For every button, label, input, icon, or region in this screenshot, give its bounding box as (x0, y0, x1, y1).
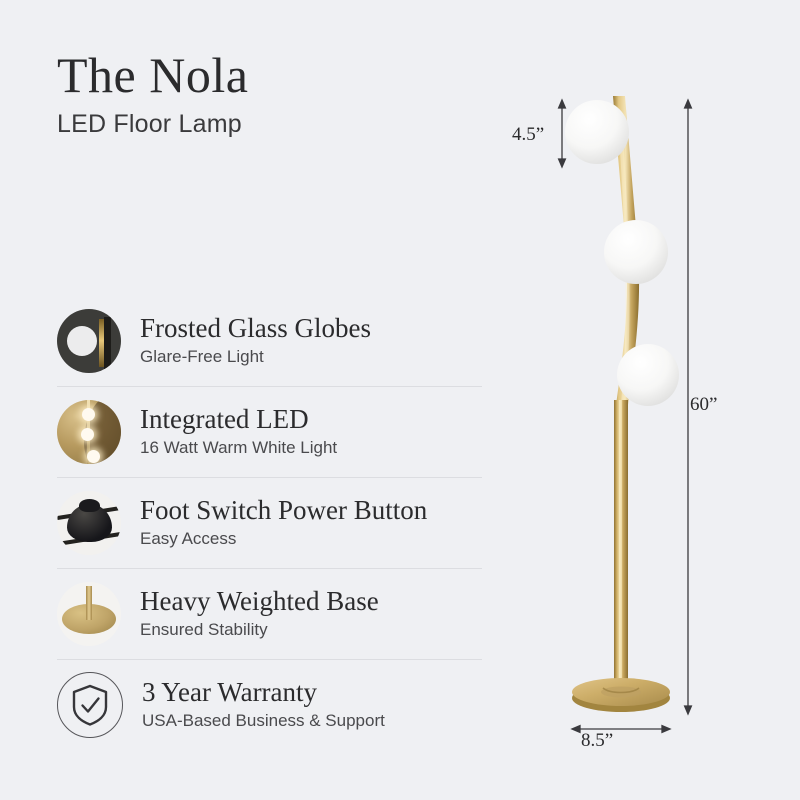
dimension-label-base-width: 8.5” (581, 730, 613, 752)
feature-item-integrated-led: Integrated LED 16 Watt Warm White Light (57, 386, 482, 477)
dimension-label-total-height: 60” (690, 394, 717, 416)
feature-list: Frosted Glass Globes Glare-Free Light In… (57, 296, 482, 750)
feature-item-frosted-glass-globes: Frosted Glass Globes Glare-Free Light (57, 296, 482, 386)
lamp-globe-bottom (617, 344, 679, 406)
feature-item-warranty: 3 Year Warranty USA-Based Business & Sup… (57, 659, 482, 750)
lamp-illustration (500, 60, 800, 780)
product-infographic: The Nola LED Floor Lamp Frosted Glass Gl… (0, 0, 800, 800)
weighted-base-icon (57, 582, 121, 646)
feature-text: Heavy Weighted Base Ensured Stability (140, 587, 379, 642)
integrated-led-icon (57, 400, 121, 464)
lamp-globe-middle (604, 220, 668, 284)
feature-title: Heavy Weighted Base (140, 587, 379, 617)
shield-check-icon (57, 672, 123, 738)
frosted-globe-icon (57, 309, 121, 373)
feature-title: Frosted Glass Globes (140, 314, 371, 344)
product-image (500, 60, 800, 780)
page-title: The Nola (57, 50, 477, 100)
foot-switch-icon (57, 491, 121, 555)
feature-title: 3 Year Warranty (142, 678, 385, 708)
feature-subtitle: Ensured Stability (140, 619, 379, 641)
feature-text: Integrated LED 16 Watt Warm White Light (140, 405, 337, 460)
dimension-label-globe-diameter: 4.5” (512, 124, 544, 146)
feature-subtitle: Easy Access (140, 528, 427, 550)
header: The Nola LED Floor Lamp (57, 50, 477, 142)
feature-text: Frosted Glass Globes Glare-Free Light (140, 314, 371, 369)
feature-item-foot-switch: Foot Switch Power Button Easy Access (57, 477, 482, 568)
feature-title: Integrated LED (140, 405, 337, 435)
dimension-line-globe (559, 100, 566, 167)
lamp-globe-top (565, 100, 629, 164)
feature-text: Foot Switch Power Button Easy Access (140, 496, 427, 551)
feature-item-weighted-base: Heavy Weighted Base Ensured Stability (57, 568, 482, 659)
feature-subtitle: 16 Watt Warm White Light (140, 437, 337, 459)
feature-subtitle: USA-Based Business & Support (142, 710, 385, 732)
feature-title: Foot Switch Power Button (140, 496, 427, 526)
feature-text: 3 Year Warranty USA-Based Business & Sup… (142, 678, 385, 733)
page-subtitle: LED Floor Lamp (57, 108, 477, 142)
feature-subtitle: Glare-Free Light (140, 346, 371, 368)
